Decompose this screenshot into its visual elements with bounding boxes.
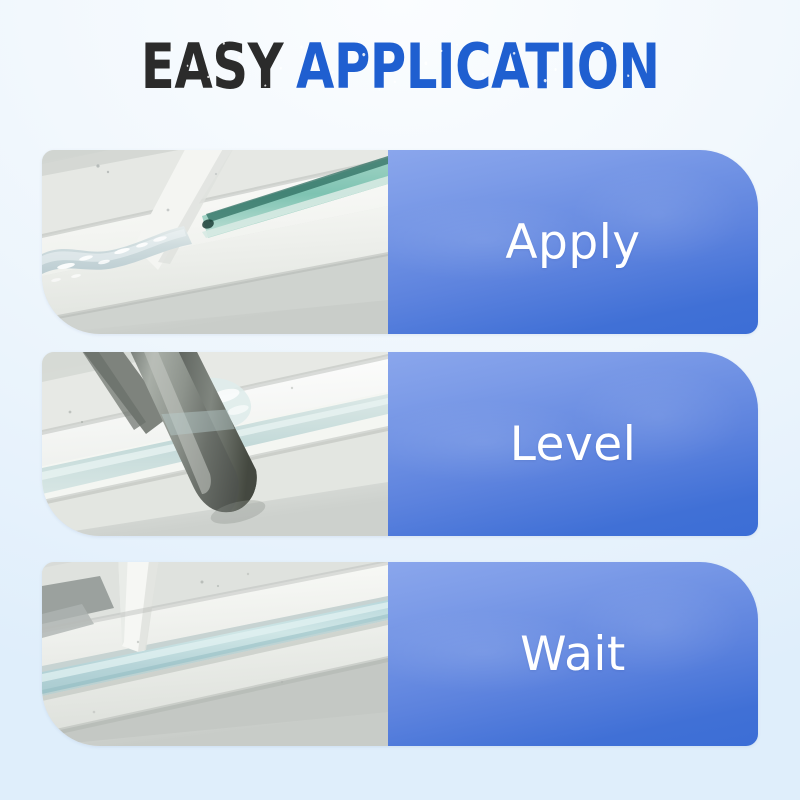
photo-illustration-wait (42, 562, 388, 746)
step-photo-wait (42, 562, 388, 746)
step-label-wait: Wait (520, 631, 626, 678)
step-card-wait[interactable]: Wait (42, 562, 758, 746)
photo-illustration-level (42, 352, 388, 536)
title-word-application: APPLICATION (296, 30, 660, 103)
step-label-apply: Apply (505, 219, 640, 266)
step-card-apply[interactable]: Apply (42, 150, 758, 334)
step-panel-wait: Wait (388, 562, 758, 746)
step-panel-apply: Apply (388, 150, 758, 334)
step-photo-level (42, 352, 388, 536)
title-text: EASYAPPLICATION (141, 36, 660, 98)
step-photo-apply (42, 150, 388, 334)
infographic-canvas: EASYAPPLICATION (0, 0, 800, 800)
page-title: EASYAPPLICATION (0, 36, 800, 98)
title-word-easy: EASY (141, 30, 283, 103)
step-card-level[interactable]: Level (42, 352, 758, 536)
step-label-level: Level (510, 421, 637, 468)
photo-illustration-apply (42, 150, 388, 334)
step-panel-level: Level (388, 352, 758, 536)
